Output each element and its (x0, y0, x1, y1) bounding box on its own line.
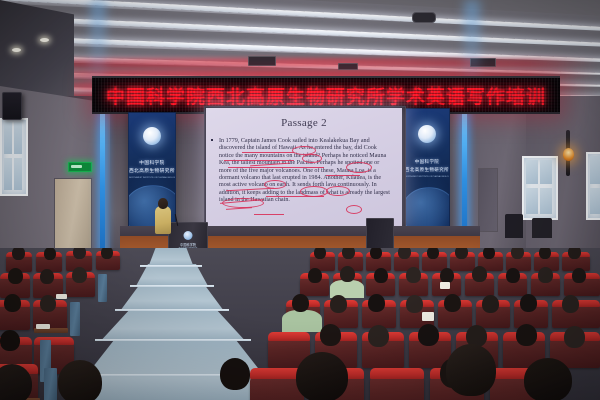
right-window (522, 156, 558, 220)
annotation-circle (346, 205, 362, 214)
attendee-head (539, 248, 551, 259)
attendee-head (340, 266, 355, 282)
center-aisle (128, 248, 214, 266)
attendee-head (444, 294, 461, 312)
attendee-head (564, 326, 585, 348)
slide-title: Passage 2 (206, 117, 402, 129)
notebook (440, 282, 450, 289)
ceiling-vent (338, 63, 358, 70)
attendee-head (482, 295, 499, 313)
institute-logo (143, 127, 161, 145)
attendee-head (440, 268, 454, 283)
banner-right-org-sub-cn: 西北高原生物研究所 (405, 167, 449, 173)
banner-right-org-cn: 中国科学院 (405, 159, 449, 165)
side-chair (505, 214, 523, 238)
attendee-head-foreground (296, 352, 348, 400)
step-edge (115, 309, 229, 311)
exit-sign (68, 162, 92, 172)
attendee-head (572, 268, 586, 283)
attendee-head-foreground (446, 344, 496, 396)
attendee-head (562, 295, 579, 313)
banner-left-org-sub-cn: 西北高原生物研究所 (129, 168, 175, 174)
attendee-head (455, 248, 468, 259)
attendee-head (73, 248, 86, 259)
right-window (586, 152, 600, 220)
attendee-head (516, 324, 537, 346)
ceiling-downlight (40, 38, 49, 42)
lecture-hall-photo: 中国科学院西北高原生物研究所学术英语写作培训 中国科学院 西北高原生物研究所 N… (0, 0, 600, 400)
side-table (532, 218, 552, 238)
attendee-head (368, 325, 389, 347)
attendee-head (292, 294, 309, 312)
attendee-head (308, 268, 322, 283)
slide-body-text: In 1779, Captain James Cook sailed into … (219, 138, 391, 205)
attendee-shoulders (282, 310, 322, 332)
attendee-head (101, 248, 113, 259)
left-window (0, 118, 28, 196)
attendee-head (483, 248, 495, 259)
attendee-head (511, 248, 524, 259)
attendee-head (40, 295, 56, 312)
attendee-head (4, 294, 21, 312)
banner-left-org-en: NORTHWEST INSTITUTE OF PLATEAU BIOLOGY, … (129, 177, 175, 179)
attendee-head (506, 268, 520, 283)
row-end-panel (70, 302, 80, 336)
center-aisle (112, 264, 232, 286)
ceiling-downlight (12, 48, 21, 52)
wall-loudspeaker (2, 92, 22, 120)
attendee-head (314, 248, 326, 259)
attendee-head (520, 294, 537, 312)
attendee-head (368, 294, 385, 312)
step-edge (95, 339, 251, 341)
attendee-head (44, 248, 56, 260)
banner-right-org-en: NORTHWEST INSTITUTE OF PLATEAU BIOLOGY, … (405, 176, 449, 178)
right-doorway[interactable] (478, 168, 498, 232)
attendee-head (220, 358, 250, 390)
ceiling-vent (412, 12, 436, 23)
led-banner-text: 中国科学院西北高原生物研究所学术英语写作培训 (106, 82, 546, 109)
attendee-head (398, 248, 411, 259)
banner-left-org-cn: 中国科学院 (129, 160, 175, 166)
attendee-head (370, 248, 382, 259)
podium-logo-icon (184, 231, 193, 240)
attendee-head-foreground (58, 360, 102, 400)
center-aisle (92, 284, 252, 310)
attendee-head (330, 295, 347, 313)
attendee-head (568, 248, 581, 259)
row-end-panel (44, 368, 57, 400)
slide-bullet-icon (211, 139, 213, 141)
annotation-strikethrough (226, 207, 252, 210)
audience-seating-area (0, 248, 600, 400)
wall-sconce-lamp (563, 148, 574, 161)
institute-logo (418, 125, 436, 143)
attendee-head (406, 295, 423, 313)
attendee-head (427, 248, 439, 259)
notebook (36, 324, 50, 329)
notebook (422, 312, 434, 321)
attendee-head (320, 324, 341, 346)
attendee-head (8, 268, 23, 284)
ceiling-vent (248, 56, 276, 66)
annotation-underline (254, 214, 284, 215)
step-edge (130, 285, 214, 287)
attendee-head (374, 268, 388, 283)
projection-slide: Passage 2 In 1779, Captain James Cook sa… (206, 108, 402, 228)
attendee-head-foreground (524, 358, 572, 400)
attendee-head (72, 267, 87, 283)
attendee-head (472, 266, 487, 282)
presenter-body (155, 206, 171, 234)
notebook (56, 294, 67, 299)
attendee-head (12, 248, 25, 260)
attendee-head (418, 324, 439, 346)
presenter-head (158, 198, 168, 209)
attendee-head (342, 248, 355, 259)
attendee-head (40, 269, 54, 284)
attendee-head (0, 330, 20, 351)
blue-accent-light (100, 112, 105, 262)
center-aisle (68, 308, 278, 340)
attendee-head (406, 267, 421, 283)
attendee-head (538, 267, 553, 283)
stage-banner-right: 中国科学院 西北高原生物研究所 NORTHWEST INSTITUTE OF P… (404, 108, 450, 238)
row-end-panel (98, 274, 107, 302)
step-edge (140, 265, 202, 267)
